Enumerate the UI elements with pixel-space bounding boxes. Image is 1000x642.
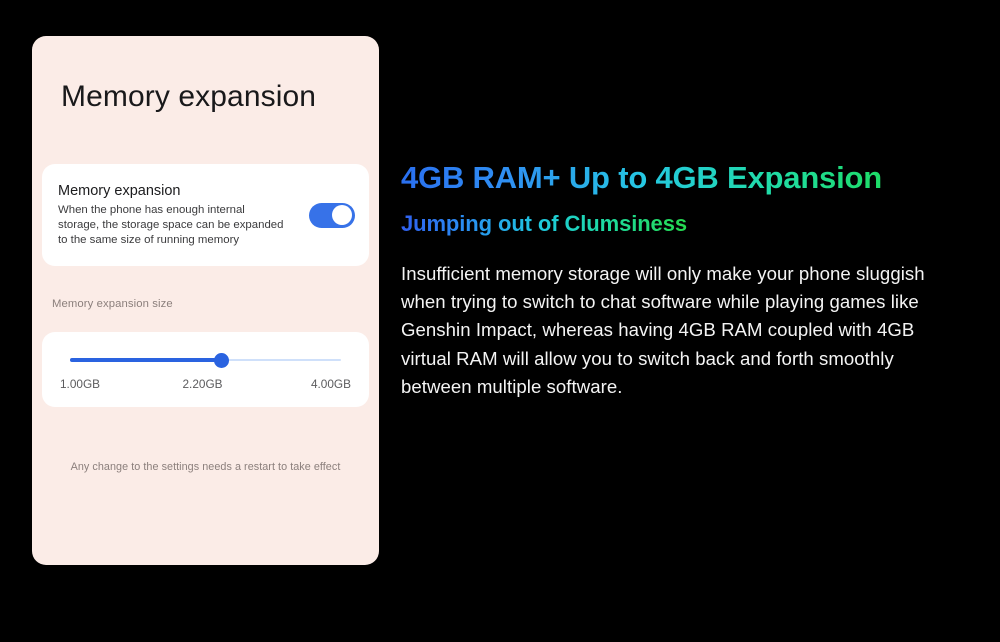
promo-subheading: Jumping out of Clumsiness	[401, 211, 687, 236]
page-title: Memory expansion	[61, 80, 316, 114]
slider-tick-labels: 1.00GB 2.20GB 4.00GB	[60, 377, 351, 391]
memory-expansion-size-label: Memory expansion size	[52, 298, 173, 310]
restart-required-note: Any change to the settings needs a resta…	[32, 461, 379, 473]
toggle-knob	[332, 205, 352, 225]
memory-expansion-toggle[interactable]	[309, 203, 355, 228]
setting-row: Memory expansion When the phone has enou…	[42, 164, 369, 266]
promo-heading: 4GB RAM+ Up to 4GB Expansion	[401, 160, 981, 196]
memory-size-slider-card[interactable]: 1.00GB 2.20GB 4.00GB	[42, 332, 369, 407]
slider-track-fill	[70, 358, 222, 362]
phone-settings-panel: Memory expansion Memory expansion When t…	[32, 36, 379, 565]
memory-size-slider[interactable]	[70, 358, 341, 362]
promo-column: 4GB RAM+ Up to 4GB Expansion Jumping out…	[401, 160, 981, 401]
page-root: Memory expansion Memory expansion When t…	[0, 0, 1000, 642]
memory-expansion-setting-card[interactable]: Memory expansion When the phone has enou…	[42, 164, 369, 266]
slider-thumb[interactable]	[214, 353, 229, 368]
setting-title: Memory expansion	[58, 182, 299, 200]
setting-text-column: Memory expansion When the phone has enou…	[58, 182, 309, 249]
slider-min-label: 1.00GB	[60, 377, 100, 391]
promo-body-text: Insufficient memory storage will only ma…	[401, 260, 961, 401]
slider-current-label: 2.20GB	[182, 377, 222, 391]
setting-description: When the phone has enough internal stora…	[58, 203, 286, 248]
slider-max-label: 4.00GB	[311, 377, 351, 391]
